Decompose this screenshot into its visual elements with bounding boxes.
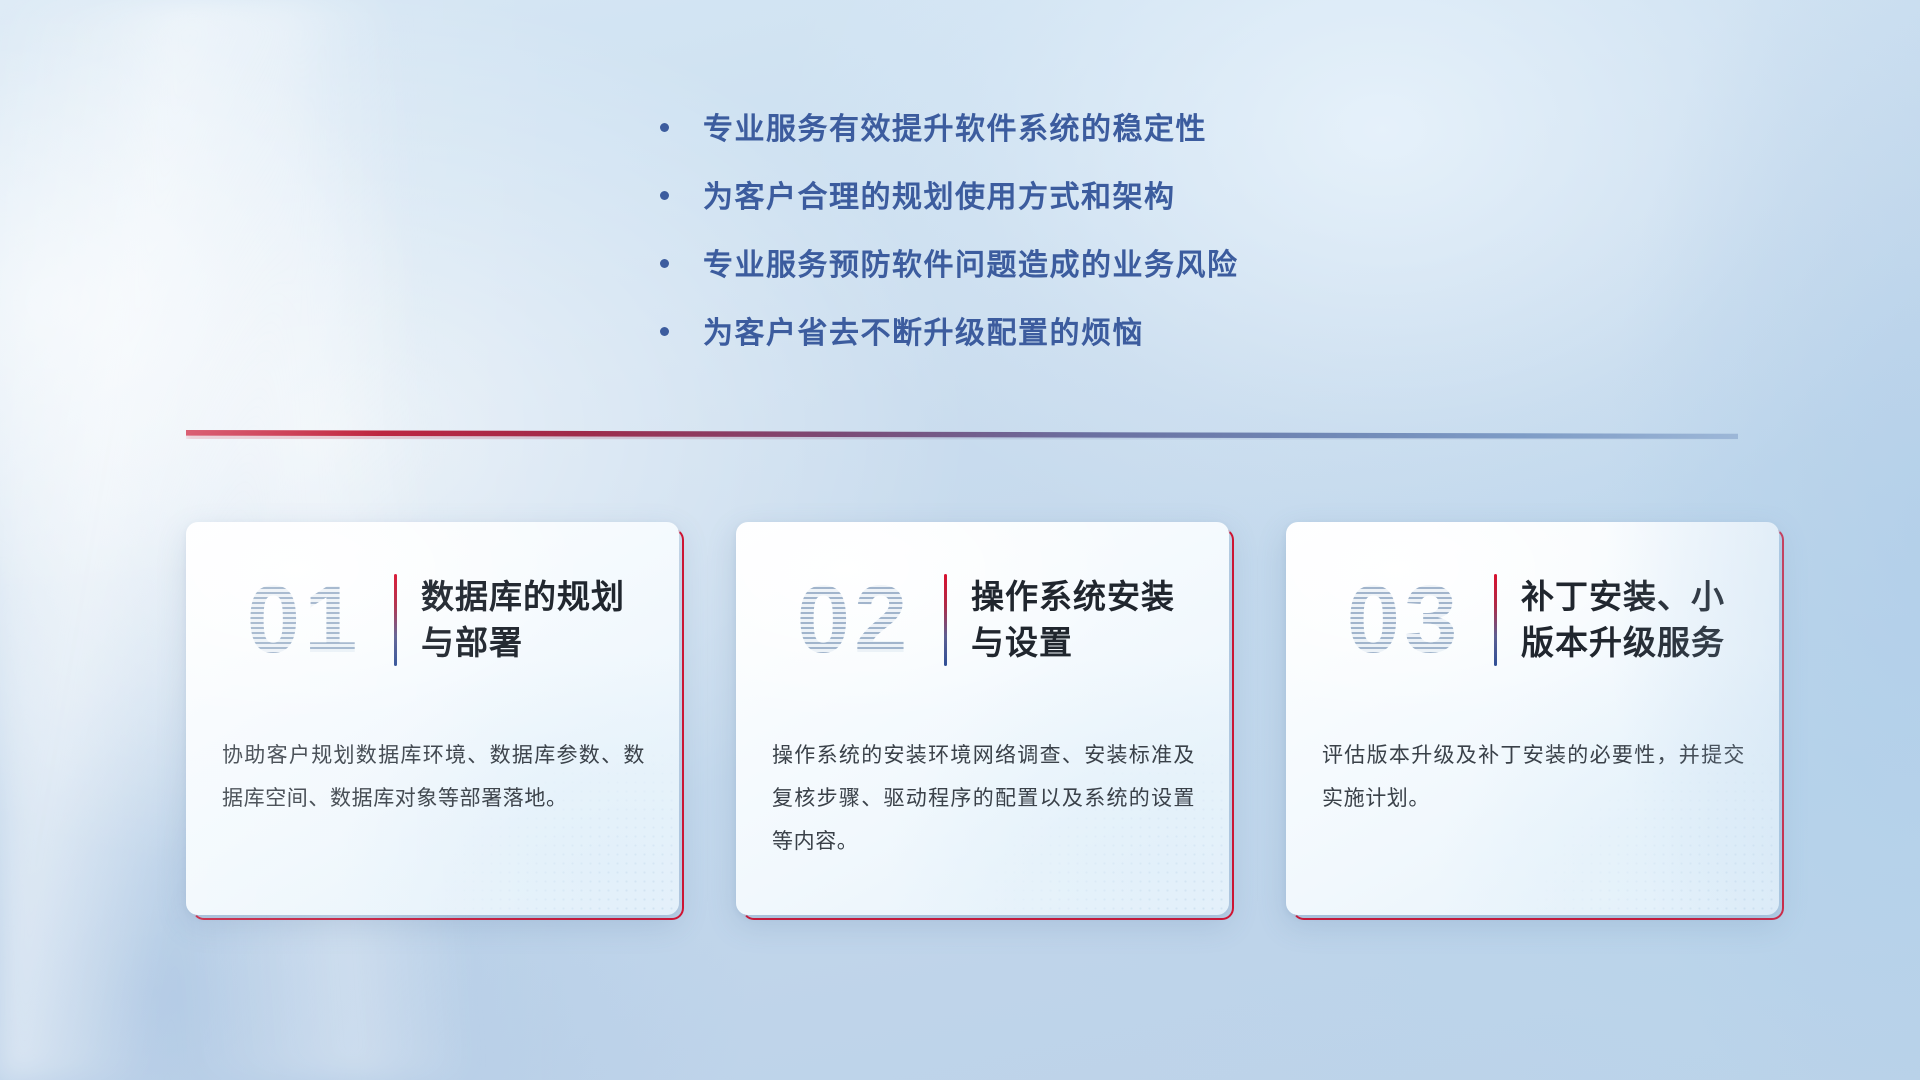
- bullet-text: 专业服务预防软件问题造成的业务风险: [703, 248, 1239, 284]
- card-header: 01 01 数据库的规划与部署: [186, 522, 679, 718]
- card-title: 数据库的规划与部署: [421, 574, 651, 665]
- bullet-dot-icon: [660, 123, 669, 132]
- card-number: 03: [1320, 572, 1488, 668]
- bullet-dot-icon: [660, 327, 669, 336]
- card-surface: 02 02 操作系统安装与设置 操作系统的安装环境网络调查、安装标准及复核步骤、…: [736, 522, 1229, 915]
- card-title: 补丁安装、小版本升级服务: [1521, 574, 1751, 665]
- bullet-list: 专业服务有效提升软件系统的稳定性 为客户合理的规划使用方式和架构 专业服务预防软…: [660, 112, 1420, 384]
- list-item: 为客户省去不断升级配置的烦恼: [660, 316, 1420, 352]
- card-01[interactable]: 01 01 数据库的规划与部署 协助客户规划数据库环境、数据库参数、数据库空间、…: [186, 522, 679, 915]
- card-number-wrap: 01 01: [186, 572, 388, 668]
- card-divider-rule: [1494, 574, 1497, 666]
- section-divider: [186, 430, 1738, 441]
- bullet-text: 为客户省去不断升级配置的烦恼: [703, 316, 1144, 352]
- bullet-dot-icon: [660, 259, 669, 268]
- card-body-text: 协助客户规划数据库环境、数据库参数、数据库空间、数据库对象等部署落地。: [222, 734, 645, 820]
- card-body-text: 评估版本升级及补丁安装的必要性，并提交实施计划。: [1322, 734, 1745, 820]
- card-number-wrap: 02 02: [736, 572, 938, 668]
- list-item: 为客户合理的规划使用方式和架构: [660, 180, 1420, 216]
- bullet-text: 专业服务有效提升软件系统的稳定性: [703, 112, 1207, 148]
- bullet-text: 为客户合理的规划使用方式和架构: [703, 180, 1176, 216]
- list-item: 专业服务预防软件问题造成的业务风险: [660, 248, 1420, 284]
- card-03[interactable]: 03 03 补丁安装、小版本升级服务 评估版本升级及补丁安装的必要性，并提交实施…: [1286, 522, 1779, 915]
- card-surface: 03 03 补丁安装、小版本升级服务 评估版本升级及补丁安装的必要性，并提交实施…: [1286, 522, 1779, 915]
- card-title: 操作系统安装与设置: [971, 574, 1201, 665]
- bullet-dot-icon: [660, 191, 669, 200]
- card-row: 01 01 数据库的规划与部署 协助客户规划数据库环境、数据库参数、数据库空间、…: [186, 522, 1779, 915]
- card-divider-rule: [394, 574, 397, 666]
- slide-canvas: 专业服务有效提升软件系统的稳定性 为客户合理的规划使用方式和架构 专业服务预防软…: [0, 0, 1920, 1080]
- card-body-text: 操作系统的安装环境网络调查、安装标准及复核步骤、驱动程序的配置以及系统的设置等内…: [772, 734, 1195, 863]
- card-02[interactable]: 02 02 操作系统安装与设置 操作系统的安装环境网络调查、安装标准及复核步骤、…: [736, 522, 1229, 915]
- card-header: 03 03 补丁安装、小版本升级服务: [1286, 522, 1779, 718]
- card-number: 02: [770, 572, 938, 668]
- card-surface: 01 01 数据库的规划与部署 协助客户规划数据库环境、数据库参数、数据库空间、…: [186, 522, 679, 915]
- card-header: 02 02 操作系统安装与设置: [736, 522, 1229, 718]
- list-item: 专业服务有效提升软件系统的稳定性: [660, 112, 1420, 148]
- card-divider-rule: [944, 574, 947, 666]
- card-number: 01: [220, 572, 388, 668]
- card-number-wrap: 03 03: [1286, 572, 1488, 668]
